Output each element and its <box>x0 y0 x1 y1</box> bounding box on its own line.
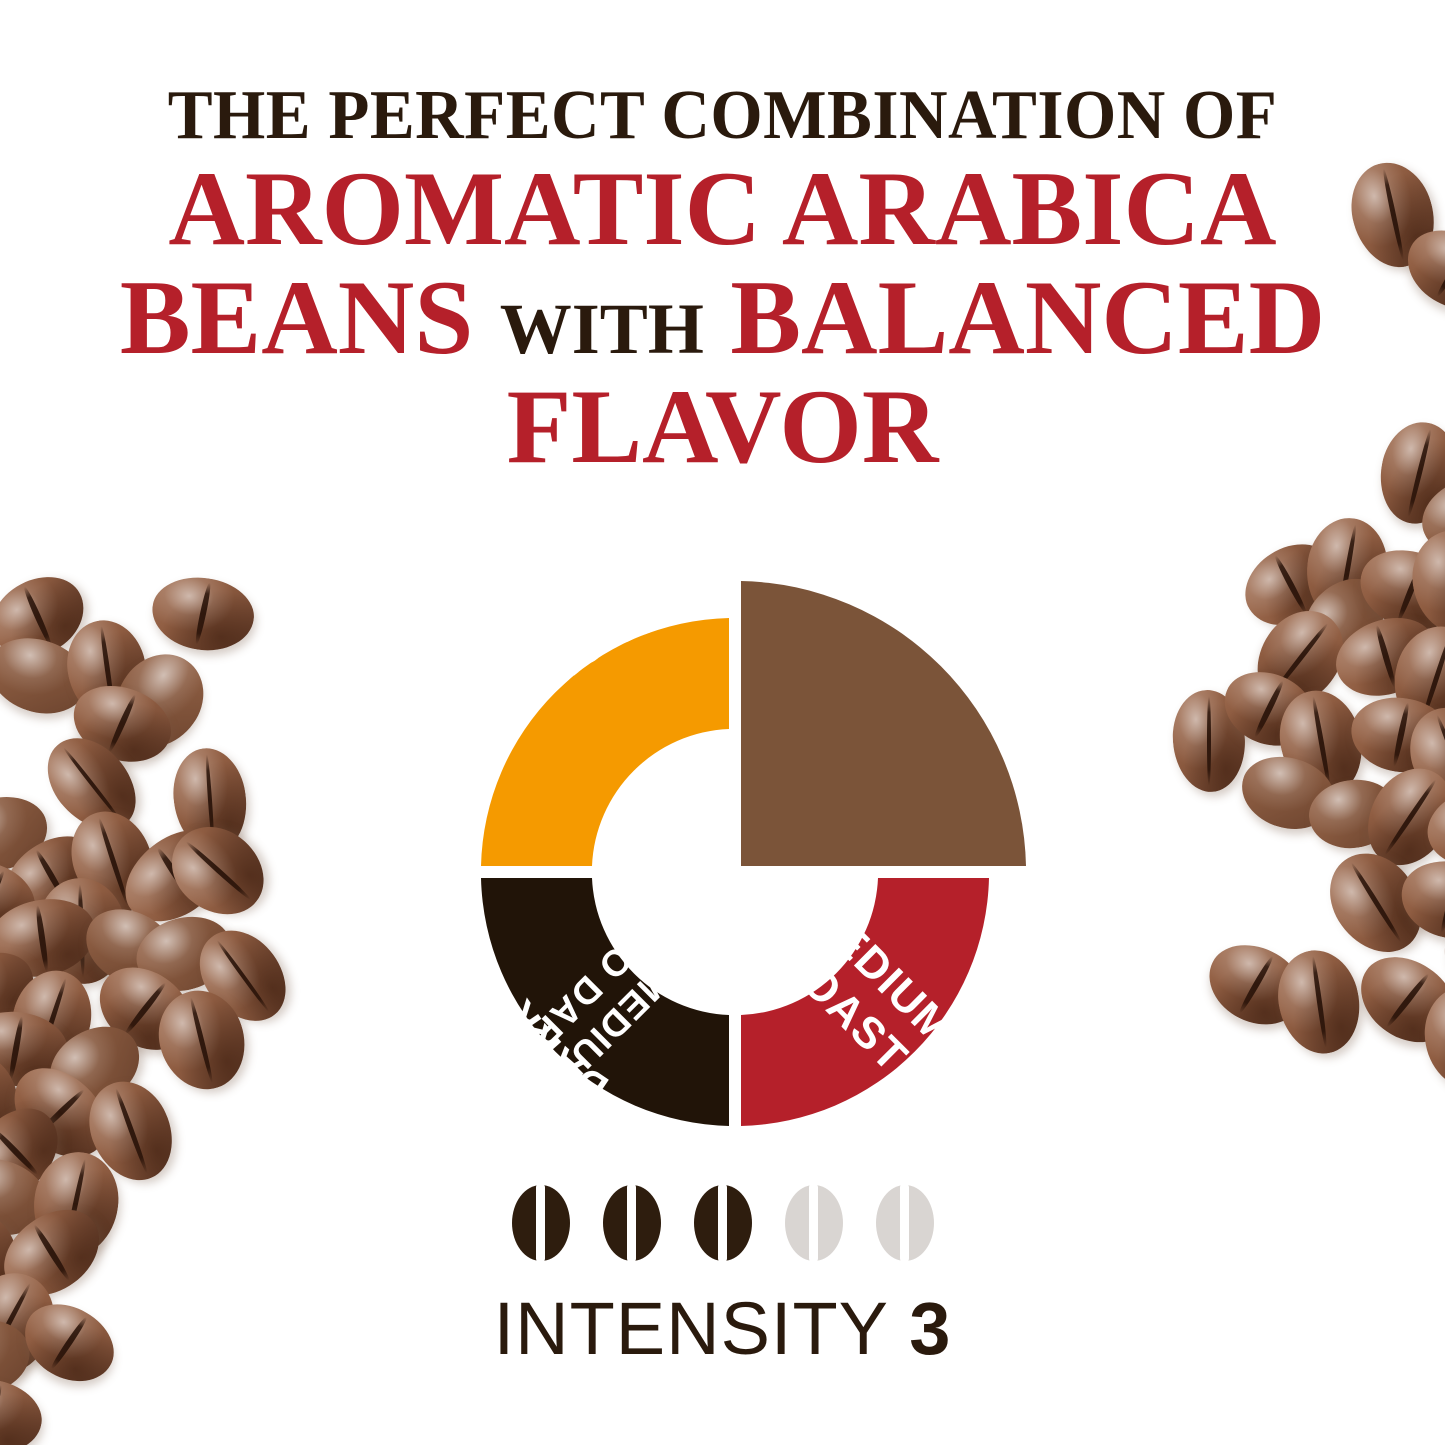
wheel-slice-medium-roast[interactable] <box>741 581 1026 866</box>
coffee-bean-icon <box>785 1185 843 1261</box>
intensity-label: INTENSITY 3 <box>0 1286 1445 1371</box>
headline-line-4: FLAVOR <box>0 372 1445 481</box>
coffee-bean-icon <box>694 1185 752 1261</box>
coffee-bean-icon <box>876 1185 934 1261</box>
intensity-value: 3 <box>909 1287 951 1370</box>
coffee-bean-icon-crease <box>718 1183 727 1263</box>
coffee-bean-icon-crease <box>900 1183 909 1263</box>
headline-line-3-with: WITH <box>500 289 704 369</box>
coffee-bean-icon-crease <box>536 1183 545 1263</box>
product-infographic: THE PERFECT COMBINATION OF AROMATIC ARAB… <box>0 0 1445 1445</box>
headline-line-3: BEANS WITH BALANCED <box>0 263 1445 372</box>
coffee-bean-icon-crease <box>627 1183 636 1263</box>
coffee-bean-icon-crease <box>809 1183 818 1263</box>
headline-line-3-red-a: BEANS <box>120 259 473 376</box>
intensity-bean-row <box>0 1185 1445 1261</box>
headline-line-2: AROMATIC ARABICA <box>0 154 1445 263</box>
intensity-label-word: INTENSITY <box>494 1287 888 1370</box>
headline-line-3-red-b: BALANCED <box>730 259 1325 376</box>
coffee-bean-icon <box>603 1185 661 1261</box>
headline-line-1: THE PERFECT COMBINATION OF <box>29 78 1416 154</box>
roast-wheel-svg: LIGHT MEDIUM ROAST MEDIUM TO DARK DARK <box>425 562 1045 1182</box>
coffee-bean-icon <box>512 1185 570 1261</box>
headline-block: THE PERFECT COMBINATION OF AROMATIC ARAB… <box>0 78 1445 481</box>
